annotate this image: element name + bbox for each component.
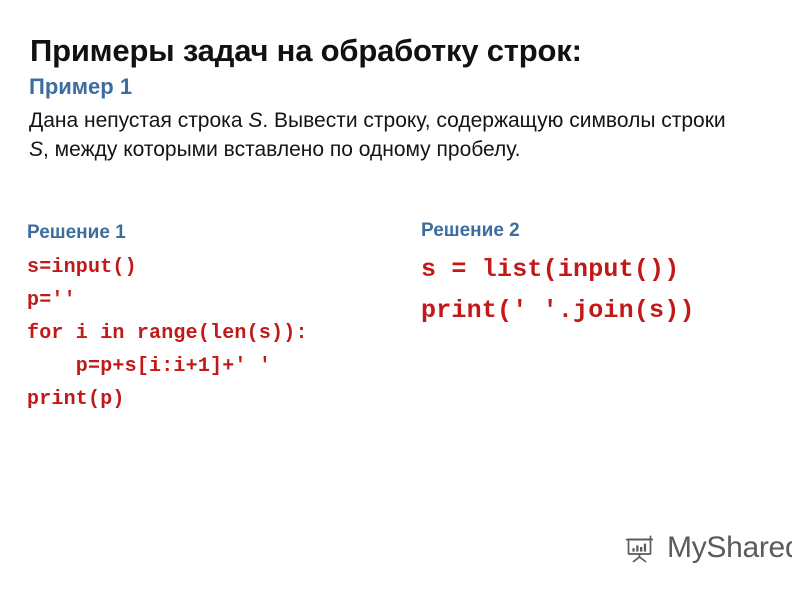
solution-2-heading: Решение 2 [421,220,781,243]
description-segment-3: , между которыми вставлено по одному про… [43,138,521,161]
example-description: Дана непустая строка S. Вывести строку, … [29,106,729,164]
example-heading: Пример 1 [29,74,132,100]
description-segment-1: Дана непустая строка [29,109,248,132]
myshared-watermark: MyShared [624,531,792,565]
solution-2-code: s = list(input()) print(' '.join(s)) [421,249,781,331]
solution-1-code: s=input() p='' for i in range(len(s)): p… [27,251,407,416]
variable-name-s-first: S [248,109,262,132]
description-segment-2: . Вывести строку, содержащую символы стр… [262,109,725,132]
watermark-label: MyShared [667,533,792,563]
page-title: Примеры задач на обработку строк: [30,33,770,70]
presentation-board-icon [624,531,658,565]
slide-canvas: Примеры задач на обработку строк: Пример… [0,0,792,600]
solution-1-heading: Решение 1 [27,222,407,245]
variable-name-s-second: S [29,138,43,161]
solution-block-2: Решение 2 s = list(input()) print(' '.jo… [421,220,781,331]
solution-block-1: Решение 1 s=input() p='' for i in range(… [27,222,407,416]
